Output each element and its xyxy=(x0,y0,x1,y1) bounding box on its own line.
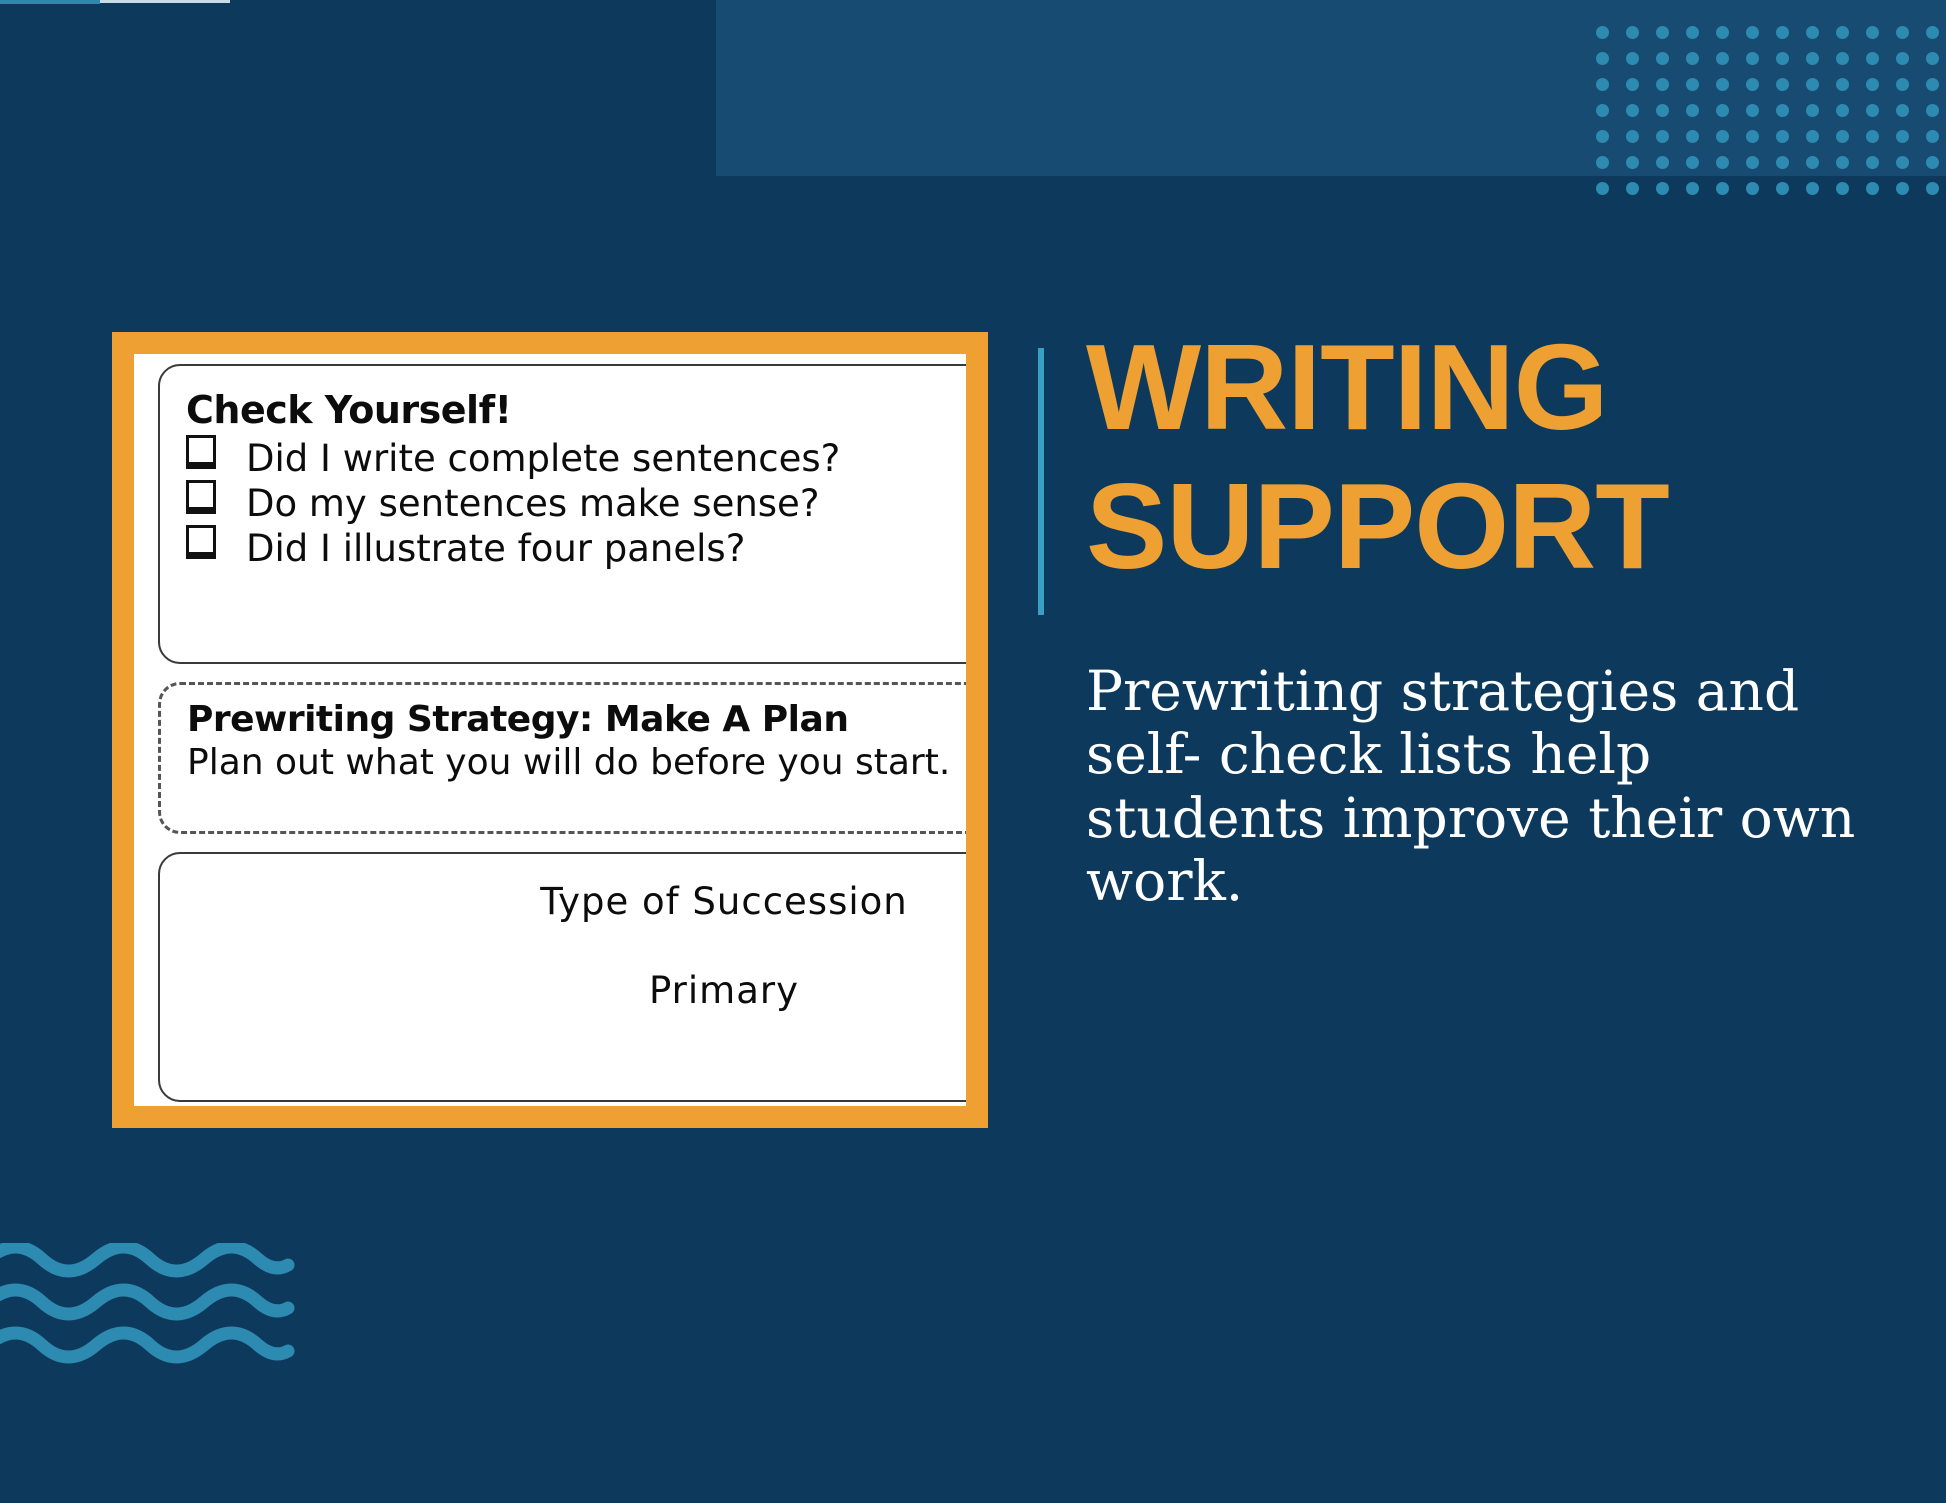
dot-icon xyxy=(1926,104,1939,117)
dot-icon xyxy=(1686,182,1699,195)
check-yourself-heading: Check Yourself! xyxy=(186,388,966,432)
dot-icon xyxy=(1686,52,1699,65)
dot-icon xyxy=(1926,26,1939,39)
dot-icon xyxy=(1866,182,1879,195)
dot-icon xyxy=(1626,78,1639,91)
dot-icon xyxy=(1866,78,1879,91)
table-row: Primary xyxy=(160,969,966,1012)
dot-icon xyxy=(1656,26,1669,39)
worksheet-image-card: Check Yourself! Did I write complete sen… xyxy=(112,332,988,1128)
dot-icon xyxy=(1836,182,1849,195)
dot-icon xyxy=(1896,156,1909,169)
checklist-item-label: Did I illustrate four panels? xyxy=(246,526,745,571)
dot-icon xyxy=(1806,130,1819,143)
dot-icon xyxy=(1866,156,1879,169)
dot-icon xyxy=(1746,130,1759,143)
dot-icon xyxy=(1596,130,1609,143)
checkbox-icon xyxy=(186,525,216,559)
prewriting-body: Plan out what you will do before you sta… xyxy=(187,742,966,783)
dot-icon xyxy=(1896,130,1909,143)
worksheet-image-viewport: Check Yourself! Did I write complete sen… xyxy=(134,354,966,1106)
dot-icon xyxy=(1926,182,1939,195)
worksheet-sheet: Check Yourself! Did I write complete sen… xyxy=(134,354,966,1106)
dot-icon xyxy=(1896,52,1909,65)
dot-icon xyxy=(1896,78,1909,91)
dot-icon xyxy=(1776,182,1789,195)
dot-icon xyxy=(1806,104,1819,117)
dot-icon xyxy=(1596,156,1609,169)
dot-icon xyxy=(1656,130,1669,143)
wave-decoration xyxy=(0,1243,300,1368)
dot-icon xyxy=(1806,156,1819,169)
checkbox-icon xyxy=(186,435,216,469)
dot-icon xyxy=(1896,182,1909,195)
dot-icon xyxy=(1866,104,1879,117)
dot-icon xyxy=(1866,52,1879,65)
dot-icon xyxy=(1896,26,1909,39)
dot-icon xyxy=(1656,78,1669,91)
dot-icon xyxy=(1836,26,1849,39)
dot-icon xyxy=(1716,156,1729,169)
succession-table-panel: Type of Succession Primary xyxy=(158,852,966,1102)
dot-icon xyxy=(1776,78,1789,91)
dot-icon xyxy=(1746,78,1759,91)
dot-icon xyxy=(1776,52,1789,65)
dot-icon xyxy=(1656,156,1669,169)
dot-icon xyxy=(1746,156,1759,169)
slide-canvas: Check Yourself! Did I write complete sen… xyxy=(0,0,1946,1503)
dot-icon xyxy=(1686,130,1699,143)
dot-icon xyxy=(1836,156,1849,169)
dot-icon xyxy=(1626,182,1639,195)
dot-icon xyxy=(1866,130,1879,143)
table-column-header: Type of Succession xyxy=(160,880,966,923)
list-item: Did I write complete sentences? xyxy=(186,436,966,481)
dot-icon xyxy=(1596,104,1609,117)
page-title-line-2: SUPPORT xyxy=(1086,458,1669,594)
dot-icon xyxy=(1926,130,1939,143)
list-item: Do my sentences make sense? xyxy=(186,481,966,526)
dot-icon xyxy=(1746,52,1759,65)
check-yourself-list: Did I write complete sentences? Do my se… xyxy=(186,436,966,571)
dot-icon xyxy=(1716,104,1729,117)
dot-icon xyxy=(1686,78,1699,91)
dot-icon xyxy=(1866,26,1879,39)
dot-icon xyxy=(1656,182,1669,195)
dot-grid-decoration xyxy=(1596,26,1946,206)
dot-icon xyxy=(1776,156,1789,169)
dot-icon xyxy=(1806,182,1819,195)
dot-icon xyxy=(1776,130,1789,143)
dot-icon xyxy=(1776,104,1789,117)
checklist-item-label: Did I write complete sentences? xyxy=(246,436,840,481)
dot-icon xyxy=(1926,78,1939,91)
dot-icon xyxy=(1746,104,1759,117)
dot-icon xyxy=(1686,104,1699,117)
dot-icon xyxy=(1626,130,1639,143)
checkbox-icon xyxy=(186,480,216,514)
dot-icon xyxy=(1686,156,1699,169)
dot-icon xyxy=(1596,52,1609,65)
dot-icon xyxy=(1716,26,1729,39)
page-subtitle: Prewriting strategies and self- check li… xyxy=(1086,660,1906,913)
dot-icon xyxy=(1626,156,1639,169)
dot-icon xyxy=(1836,78,1849,91)
dot-icon xyxy=(1926,156,1939,169)
dot-icon xyxy=(1776,26,1789,39)
dot-icon xyxy=(1626,26,1639,39)
title-accent-rule xyxy=(1038,348,1044,615)
dot-icon xyxy=(1746,182,1759,195)
check-yourself-panel: Check Yourself! Did I write complete sen… xyxy=(158,364,966,664)
dot-icon xyxy=(1656,104,1669,117)
checklist-item-label: Do my sentences make sense? xyxy=(246,481,819,526)
dot-icon xyxy=(1716,52,1729,65)
page-title-line-1: WRITING xyxy=(1086,319,1608,455)
dot-icon xyxy=(1716,130,1729,143)
prewriting-strategy-panel: Prewriting Strategy: Make A Plan Plan ou… xyxy=(158,682,966,834)
dot-icon xyxy=(1746,26,1759,39)
dot-icon xyxy=(1626,52,1639,65)
dot-icon xyxy=(1806,52,1819,65)
dot-icon xyxy=(1836,52,1849,65)
dot-icon xyxy=(1626,104,1639,117)
dot-icon xyxy=(1896,104,1909,117)
list-item: Did I illustrate four panels? xyxy=(186,526,966,571)
dot-icon xyxy=(1656,52,1669,65)
dot-icon xyxy=(1836,130,1849,143)
dot-icon xyxy=(1596,182,1609,195)
dot-icon xyxy=(1686,26,1699,39)
page-title: WRITING SUPPORT xyxy=(1086,318,1886,596)
dot-icon xyxy=(1806,26,1819,39)
dot-icon xyxy=(1716,182,1729,195)
dot-icon xyxy=(1596,78,1609,91)
dot-icon xyxy=(1836,104,1849,117)
top-hairline-light xyxy=(100,0,230,3)
dot-icon xyxy=(1926,52,1939,65)
top-hairline-accent xyxy=(0,0,100,4)
dot-icon xyxy=(1716,78,1729,91)
dot-icon xyxy=(1806,78,1819,91)
prewriting-heading: Prewriting Strategy: Make A Plan xyxy=(187,699,966,740)
dot-icon xyxy=(1596,26,1609,39)
